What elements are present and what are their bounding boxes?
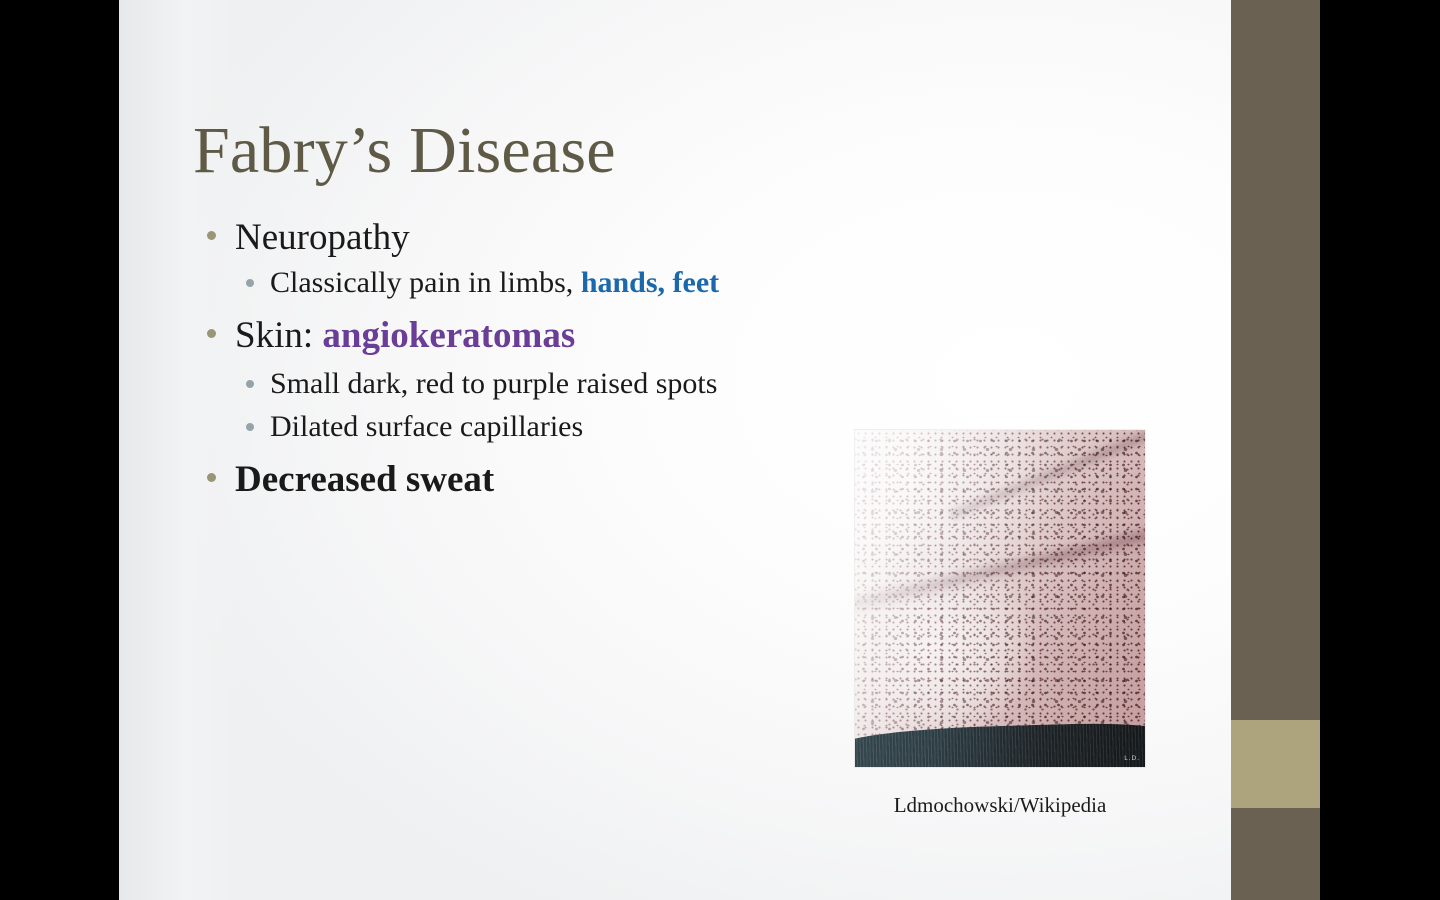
bullet-text: Dilated surface capillaries [270, 407, 583, 446]
bullet-dot-icon [246, 279, 254, 287]
bullet-decreased-sweat: Decreased sweat [193, 456, 913, 503]
bullet-skin-angiokeratomas: Skin: angiokeratomas [193, 312, 913, 359]
bullet-dot-icon [207, 329, 216, 338]
bullet-text-plain: Classically pain in limbs, [270, 266, 581, 299]
bullet-text-emphasis-blue: hands, feet [581, 266, 719, 299]
angiokeratoma-speckle-coarse [855, 430, 1145, 767]
bullet-text: Decreased sweat [235, 456, 494, 503]
bullet-dot-icon [246, 380, 254, 388]
slide-title: Fabry’s Disease [193, 116, 1173, 186]
bullet-dot-icon [207, 473, 216, 482]
photo-watermark: L.D. [1124, 755, 1140, 762]
bullet-text: Classically pain in limbs, hands, feet [270, 263, 719, 302]
slide-viewer: Fabry’s Disease Neuropathy Classically p… [0, 0, 1440, 900]
letterbox-right [1320, 0, 1440, 900]
bullet-text: Neuropathy [235, 214, 410, 261]
bullet-classically-pain: Classically pain in limbs, hands, feet [193, 263, 913, 302]
bullet-dot-icon [207, 231, 216, 240]
figure-angiokeratomas: L.D. Ldmochowski/Wikipedia [855, 430, 1145, 818]
slide-body: Neuropathy Classically pain in limbs, ha… [193, 214, 913, 507]
bullet-text: Skin: angiokeratomas [235, 312, 575, 359]
photo-caption: Ldmochowski/Wikipedia [855, 793, 1145, 818]
presentation-slide: Fabry’s Disease Neuropathy Classically p… [119, 0, 1320, 900]
bullet-small-dark-spots: Small dark, red to purple raised spots [193, 364, 913, 403]
bullet-text: Small dark, red to purple raised spots [270, 364, 717, 403]
letterbox-left [0, 0, 119, 900]
bullet-dilated-capillaries: Dilated surface capillaries [193, 407, 913, 446]
bullet-neuropathy: Neuropathy [193, 214, 913, 261]
bullet-dot-icon [246, 423, 254, 431]
clinical-photo-image: L.D. [855, 430, 1145, 767]
bullet-text-emphasis-purple: angiokeratomas [322, 315, 575, 356]
bullet-text-plain: Skin: [235, 315, 322, 356]
accent-bar-light [1231, 720, 1320, 808]
